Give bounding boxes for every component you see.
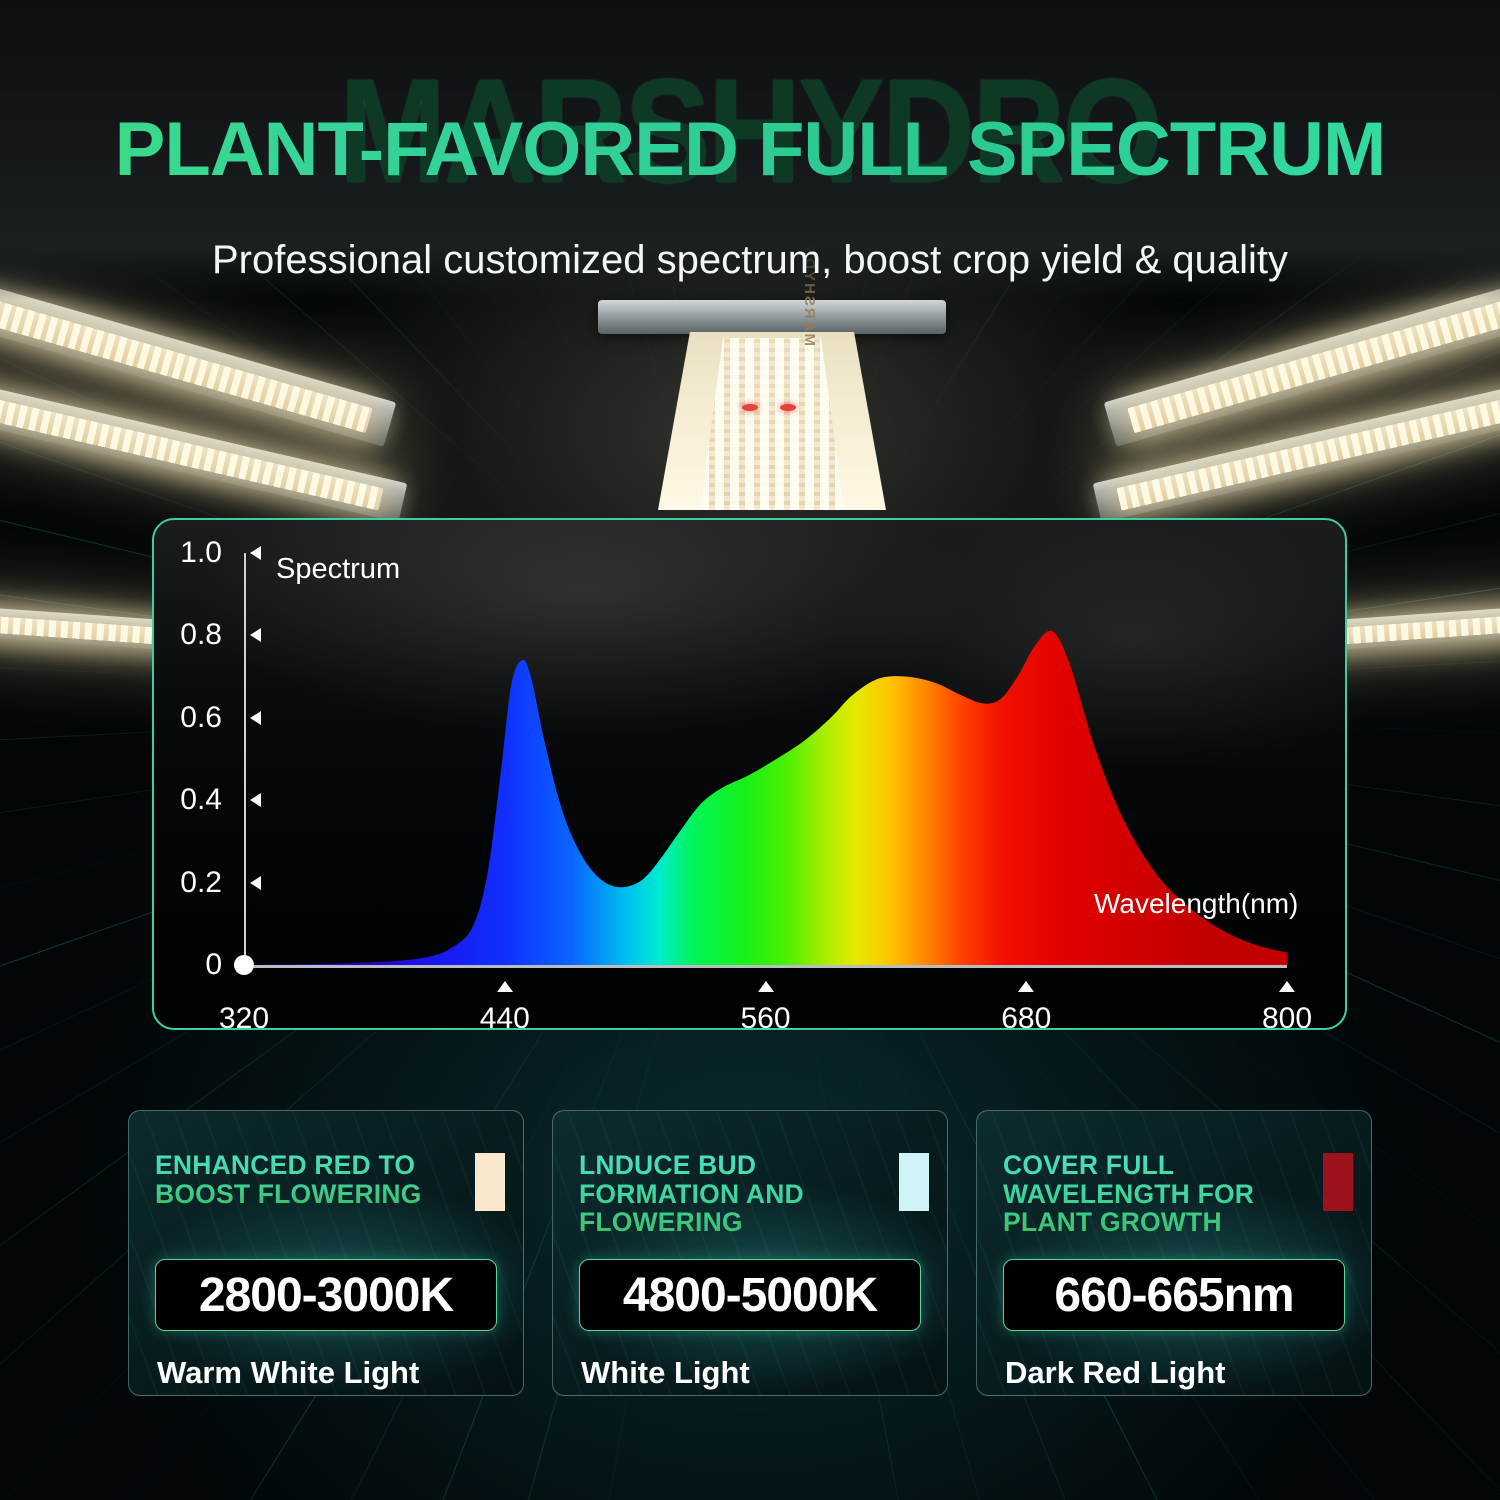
fixture-red-led-2 [780, 404, 796, 411]
card-value: 4800-5000K [623, 1268, 877, 1323]
x-axis-marker-560 [758, 981, 774, 992]
card-heading: ENHANCED RED TO BOOST FLOWERING [155, 1151, 493, 1208]
promo-graphic-root: MARSHYDRO MARSHYDRO PLANT-FAVORED FULL S… [0, 0, 1500, 1500]
y-axis-marker-0.4 [250, 793, 261, 807]
y-tick-label: 0.6 [180, 701, 222, 735]
feature-card[interactable]: ENHANCED RED TO BOOST FLOWERING2800-3000… [128, 1110, 524, 1396]
card-value: 2800-3000K [199, 1268, 453, 1323]
fixture-led-panel [700, 338, 844, 510]
card-footer-label: White Light [581, 1355, 750, 1391]
chart-origin-dot [234, 955, 254, 975]
x-tick-label: 560 [740, 1002, 790, 1030]
x-axis-marker-440 [497, 981, 513, 992]
y-axis-marker-0.2 [250, 876, 261, 890]
card-value-box: 4800-5000K [579, 1259, 921, 1331]
card-heading: COVER FULL WAVELENGTH FOR PLANT GROWTH [1003, 1151, 1341, 1237]
x-axis-marker-680 [1018, 981, 1034, 992]
card-color-swatch [1323, 1153, 1353, 1211]
x-tick-label: 440 [480, 1002, 530, 1030]
x-axis-marker-800 [1279, 981, 1295, 992]
fixture-red-led-1 [742, 404, 758, 411]
card-footer-label: Dark Red Light [1005, 1355, 1225, 1391]
center-grow-light-fixture: MARSHYDRO [622, 300, 922, 510]
x-tick-label: 680 [1001, 1002, 1051, 1030]
x-axis-line [244, 965, 1287, 968]
card-footer-label: Warm White Light [157, 1355, 419, 1391]
card-value-box: 660-665nm [1003, 1259, 1345, 1331]
y-tick-label: 0.8 [180, 618, 222, 652]
card-value-box: 2800-3000K [155, 1259, 497, 1331]
spectrum-chart: 1.00.80.60.40.20320440560680800 [154, 520, 1345, 1028]
spectrum-curve [154, 520, 1345, 1028]
spectrum-chart-panel: 1.00.80.60.40.20320440560680800 Spectrum… [152, 518, 1347, 1030]
x-tick-label: 800 [1262, 1002, 1312, 1030]
card-color-swatch [475, 1153, 505, 1211]
y-axis-marker-0.8 [250, 628, 261, 642]
feature-card[interactable]: LNDUCE BUD FORMATION AND FLOWERING4800-5… [552, 1110, 948, 1396]
y-axis-marker-1.0 [250, 546, 261, 560]
x-axis-title: Wavelength(nm) [1094, 888, 1298, 920]
fixture-mount-bar [598, 300, 946, 334]
feature-cards: ENHANCED RED TO BOOST FLOWERING2800-3000… [128, 1110, 1372, 1396]
y-tick-label: 0 [205, 948, 222, 982]
y-tick-label: 1.0 [180, 536, 222, 570]
card-color-swatch [899, 1153, 929, 1211]
spectrum-legend-label: Spectrum [276, 553, 400, 586]
card-heading: LNDUCE BUD FORMATION AND FLOWERING [579, 1151, 917, 1237]
card-value: 660-665nm [1054, 1268, 1293, 1323]
y-tick-label: 0.2 [180, 866, 222, 900]
page-subtitle: Professional customized spectrum, boost … [0, 238, 1500, 283]
x-tick-label: 320 [219, 1002, 269, 1030]
feature-card[interactable]: COVER FULL WAVELENGTH FOR PLANT GROWTH66… [976, 1110, 1372, 1396]
page-title: PLANT-FAVORED FULL SPECTRUM [0, 112, 1500, 188]
y-tick-label: 0.4 [180, 783, 222, 817]
y-axis-marker-0.6 [250, 711, 261, 725]
y-axis-line [244, 553, 246, 965]
